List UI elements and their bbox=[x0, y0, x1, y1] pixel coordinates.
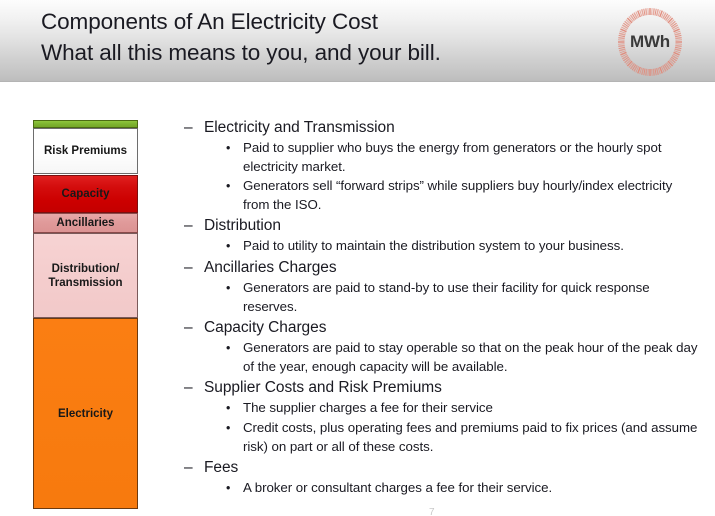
bullet-heading-text: Capacity Charges bbox=[204, 317, 326, 338]
bullet-heading-electricity-and-transmission: –Electricity and Transmission bbox=[184, 117, 704, 138]
bullet-heading-text: Distribution bbox=[204, 215, 281, 236]
dash-marker-icon: – bbox=[184, 257, 204, 278]
dot-marker-icon: • bbox=[226, 237, 243, 256]
electricity-cost-stacked-bar: Risk PremiumsCapacityAncillariesDistribu… bbox=[33, 120, 138, 509]
bullet-sub-text: Paid to supplier who buys the energy fro… bbox=[243, 139, 698, 176]
bullet-sub-item: •Generators are paid to stand-by to use … bbox=[184, 279, 704, 316]
bullet-sub-text: The supplier charges a fee for their ser… bbox=[243, 399, 493, 418]
mwh-logo: MWh bbox=[614, 6, 686, 78]
bullet-heading-text: Ancillaries Charges bbox=[204, 257, 337, 278]
bullet-sub-item: •A broker or consultant charges a fee fo… bbox=[184, 479, 704, 498]
bar-segment-ancillaries[interactable]: Ancillaries bbox=[33, 213, 138, 233]
page-title: Components of An Electricity Cost What a… bbox=[41, 6, 581, 68]
bar-segment-label: Risk Premiums bbox=[44, 145, 127, 157]
title-line-1: Components of An Electricity Cost bbox=[41, 6, 581, 37]
title-line-2: What all this means to you, and your bil… bbox=[41, 37, 581, 68]
bullet-list: –Electricity and Transmission•Paid to su… bbox=[184, 117, 704, 499]
bar-segment-label: Ancillaries bbox=[56, 217, 114, 229]
bar-segment-distribution-transmission[interactable]: Distribution/Transmission bbox=[33, 233, 138, 319]
bullet-sub-item: •Paid to utility to maintain the distrib… bbox=[184, 237, 704, 256]
dash-marker-icon: – bbox=[184, 215, 204, 236]
bullet-heading-text: Fees bbox=[204, 457, 238, 478]
bullet-heading-fees: –Fees bbox=[184, 457, 704, 478]
bullet-heading-capacity-charges: –Capacity Charges bbox=[184, 317, 704, 338]
slide-header: Components of An Electricity Cost What a… bbox=[0, 0, 715, 82]
dot-marker-icon: • bbox=[226, 177, 243, 196]
dot-marker-icon: • bbox=[226, 479, 243, 498]
bullet-heading-text: Electricity and Transmission bbox=[204, 117, 395, 138]
slide-footer: 7 bbox=[0, 507, 715, 516]
dash-marker-icon: – bbox=[184, 117, 204, 138]
bullet-heading-supplier-costs-and-risk-premiums: –Supplier Costs and Risk Premiums bbox=[184, 377, 704, 398]
dash-marker-icon: – bbox=[184, 317, 204, 338]
mwh-logo-text: MWh bbox=[614, 6, 686, 78]
bullet-sub-item: •The supplier charges a fee for their se… bbox=[184, 399, 704, 418]
bullet-sub-item: •Generators sell “forward strips” while … bbox=[184, 177, 704, 214]
bullet-sub-text: Generators are paid to stand-by to use t… bbox=[243, 279, 698, 316]
dash-marker-icon: – bbox=[184, 377, 204, 398]
dot-marker-icon: • bbox=[226, 399, 243, 418]
dot-marker-icon: • bbox=[226, 339, 243, 358]
dot-marker-icon: • bbox=[226, 279, 243, 298]
bullet-sub-item: •Generators are paid to stay operable so… bbox=[184, 339, 704, 376]
bullet-heading-ancillaries-charges: –Ancillaries Charges bbox=[184, 257, 704, 278]
bullet-sub-text: Generators are paid to stay operable so … bbox=[243, 339, 698, 376]
bullet-sub-text: Paid to utility to maintain the distribu… bbox=[243, 237, 624, 256]
bullet-sub-text: Generators sell “forward strips” while s… bbox=[243, 177, 698, 214]
bar-segment-label: Distribution/Transmission bbox=[48, 262, 122, 290]
bar-segment-label: Electricity bbox=[58, 408, 113, 420]
bar-segment-label: Capacity bbox=[62, 188, 110, 200]
bullet-sub-item: •Paid to supplier who buys the energy fr… bbox=[184, 139, 704, 176]
bullet-sub-text: A broker or consultant charges a fee for… bbox=[243, 479, 552, 498]
slide: Components of An Electricity Cost What a… bbox=[0, 0, 715, 516]
bar-segment-risk-premiums[interactable]: Risk Premiums bbox=[33, 128, 138, 175]
bullet-sub-text: Credit costs, plus operating fees and pr… bbox=[243, 419, 698, 456]
dash-marker-icon: – bbox=[184, 457, 204, 478]
dot-marker-icon: • bbox=[226, 139, 243, 158]
dot-marker-icon: • bbox=[226, 419, 243, 438]
bar-segment-capacity[interactable]: Capacity bbox=[33, 175, 138, 214]
bullet-heading-distribution: –Distribution bbox=[184, 215, 704, 236]
bar-segment-seg-0[interactable] bbox=[33, 120, 138, 128]
page-number: 7 bbox=[429, 507, 435, 516]
bullet-sub-item: •Credit costs, plus operating fees and p… bbox=[184, 419, 704, 456]
bar-segment-electricity[interactable]: Electricity bbox=[33, 318, 138, 509]
bullet-heading-text: Supplier Costs and Risk Premiums bbox=[204, 377, 442, 398]
